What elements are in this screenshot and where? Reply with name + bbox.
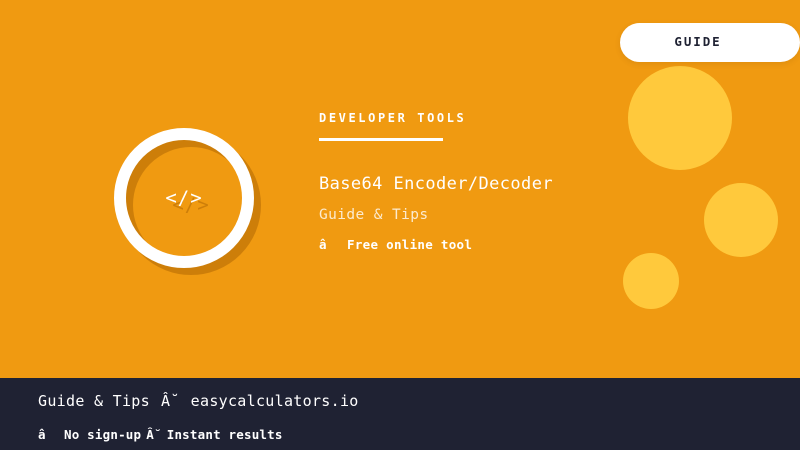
logo: </> (114, 128, 254, 268)
footer-bar: Guide & Tips Â˘ easycalculators.io â No … (0, 378, 800, 450)
page-title: Base64 Encoder/Decoder (319, 175, 619, 195)
logo-ring: </> (114, 128, 254, 268)
footer-separator-icon: Â˘ (150, 392, 191, 410)
eyebrow-label: DEVELOPER TOOLS (319, 112, 619, 124)
main-text-block: DEVELOPER TOOLS Base64 Encoder/Decoder G… (319, 112, 619, 252)
footer-primary-line: Guide & Tips Â˘ easycalculators.io (38, 392, 359, 410)
feature-bullet-icon: â (319, 237, 347, 252)
feature-label: Free online tool (347, 237, 472, 252)
guide-badge-label: GUIDE (674, 36, 745, 49)
page-subtitle: Guide & Tips (319, 207, 619, 224)
decorative-circle-small (623, 253, 679, 309)
footer-site-url[interactable]: easycalculators.io (191, 392, 359, 410)
footer-feature-one: No sign-up (64, 427, 141, 442)
footer-feature-two: Instant results (167, 427, 283, 442)
footer-secondary-line: â No sign-up Â˘ Instant results (38, 427, 283, 442)
decorative-circle-medium (704, 183, 778, 257)
decorative-circle-large (628, 66, 732, 170)
footer-separator-icon-2: Â˘ (141, 427, 166, 442)
code-brackets-icon: </> (165, 189, 202, 208)
footer-brand-label: Guide & Tips (38, 392, 150, 410)
eyebrow-divider (319, 138, 443, 141)
slide-canvas: GUIDE </> DEVELOPER TOOLS Base64 Encoder… (0, 0, 800, 450)
feature-item: â Free online tool (319, 237, 619, 252)
footer-bullet-icon: â (38, 427, 64, 442)
guide-badge[interactable]: GUIDE (620, 23, 800, 62)
